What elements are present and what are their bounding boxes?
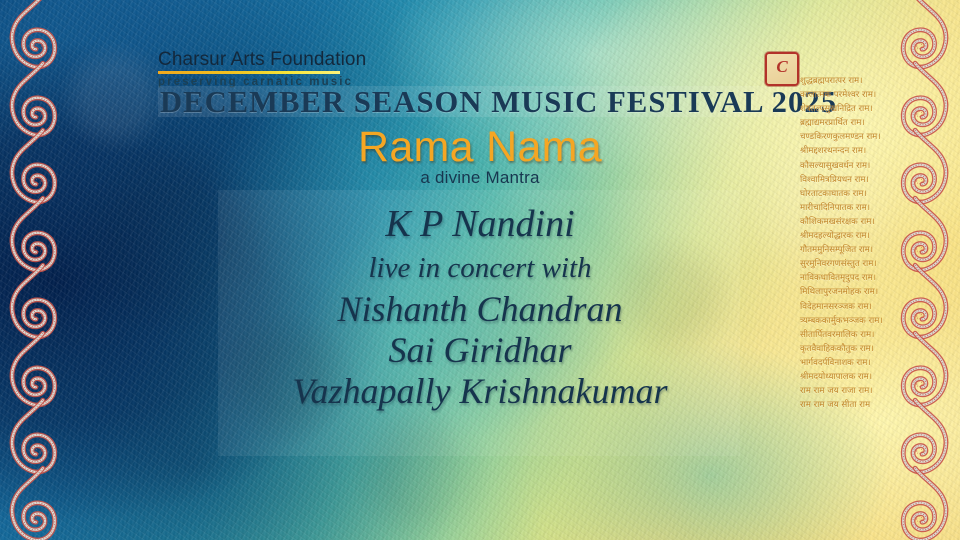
shloka-line: भार्गवदर्पविनाशक राम। bbox=[800, 356, 924, 370]
festival-title: DECEMBER SEASON MUSIC FESTIVAL 2025 bbox=[160, 84, 837, 120]
shloka-line: कौशिकमखसंरक्षक राम। bbox=[800, 215, 924, 229]
shloka-line: ब्रह्माद्यमरप्रार्थित राम। bbox=[800, 116, 924, 130]
charsur-logo-icon: C bbox=[765, 52, 799, 86]
concert-poster: Charsur Arts Foundation preserving carna… bbox=[0, 0, 960, 540]
shloka-line: शुद्धब्रह्मपरात्पर राम। bbox=[800, 74, 924, 88]
shloka-line: कौसल्यासुखवर्धन राम। bbox=[800, 159, 924, 173]
shloka-line: मिथिलापुरजनमोहक राम। bbox=[800, 285, 924, 299]
charsur-logo-glyph: C bbox=[767, 54, 797, 80]
shloka-line: त्र्यम्बककार्मुकभञ्जक राम। bbox=[800, 314, 924, 328]
shloka-line: श्रीमदयोध्यापालक राम। bbox=[800, 370, 924, 384]
shloka-line: चण्डकिरणकुलमण्डन राम। bbox=[800, 130, 924, 144]
shloka-line: सीतार्पितवरमालिक राम। bbox=[800, 328, 924, 342]
shloka-line: राम राम जय राजा राम। bbox=[800, 384, 924, 398]
paisley-motif bbox=[4, 465, 58, 540]
shloka-line: श्रीमदहल्योद्धारक राम। bbox=[800, 229, 924, 243]
shloka-line: विश्वामित्रप्रियधन राम। bbox=[800, 173, 924, 187]
shloka-line: राम राम जय सीता राम bbox=[800, 398, 924, 412]
shloka-line: गौतममुनिसम्पूजित राम। bbox=[800, 243, 924, 257]
shloka-line: कृतवैवाहिककौतुक राम। bbox=[800, 342, 924, 356]
paisley-motif bbox=[900, 465, 954, 540]
foundation-underline bbox=[158, 71, 340, 74]
shloka-line: विदेहमानसरञ्जक राम। bbox=[800, 300, 924, 314]
shloka-line: कालात्मक परमेश्वर राम। bbox=[800, 88, 924, 102]
foundation-header: Charsur Arts Foundation preserving carna… bbox=[158, 50, 366, 88]
shloka-line: घोरताटकाघातक राम। bbox=[800, 187, 924, 201]
paisley-motif-icon bbox=[4, 465, 58, 540]
shloka-line: श्रीमद्दशरथनन्दन राम। bbox=[800, 144, 924, 158]
shloka-line: मारीचादिनिपातक राम। bbox=[800, 201, 924, 215]
shloka-line: सुरमुनिवरगणसंस्तुत राम। bbox=[800, 257, 924, 271]
shloka-verse-column: शुद्धब्रह्मपरात्पर राम।कालात्मक परमेश्वर… bbox=[800, 74, 924, 412]
shloka-line: नाविकधावितमृदुपद राम। bbox=[800, 271, 924, 285]
shloka-line: शेषतल्पसुखनिद्रित राम। bbox=[800, 102, 924, 116]
foundation-name: Charsur Arts Foundation bbox=[158, 50, 366, 70]
paisley-motif-icon bbox=[900, 465, 954, 540]
